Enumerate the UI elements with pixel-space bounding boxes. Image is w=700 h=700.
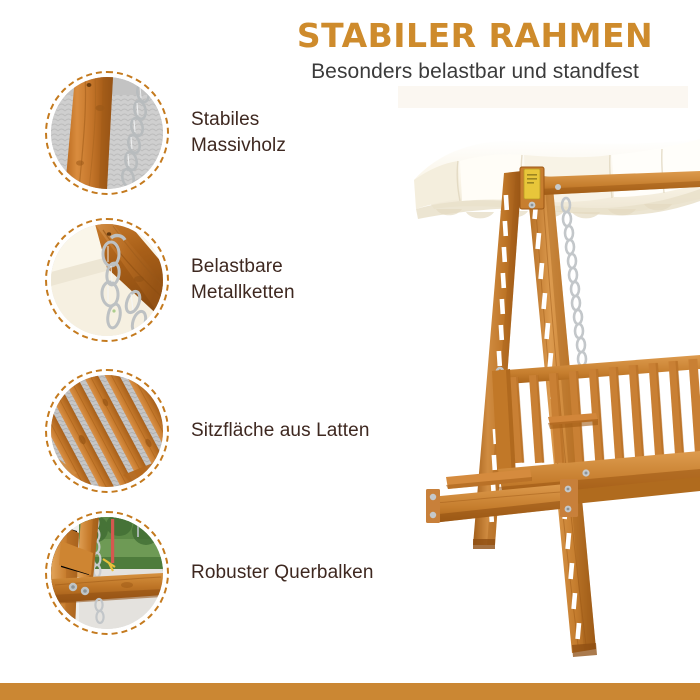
accent-bar bbox=[0, 683, 700, 700]
feature-thumbnail-3 bbox=[45, 369, 169, 493]
dashed-ring-4 bbox=[45, 511, 169, 635]
product-image-wooden-garden-swing bbox=[400, 125, 700, 670]
infographic-canvas: STABILER RAHMEN Besonders belastbar und … bbox=[0, 0, 700, 700]
dashed-ring-1 bbox=[45, 71, 169, 195]
feature-thumbnail-4 bbox=[45, 511, 169, 635]
feature-label-3: Sitzfläche aus Latten bbox=[191, 418, 370, 444]
dashed-ring-2 bbox=[45, 218, 169, 342]
feature-thumbnail-1 bbox=[45, 71, 169, 195]
feature-label-1: Stabiles Massivholz bbox=[191, 107, 286, 158]
page-title: STABILER RAHMEN bbox=[255, 18, 695, 54]
feature-label-2: Belastbare Metallketten bbox=[191, 254, 295, 305]
feature-label-4: Robuster Querbalken bbox=[191, 560, 374, 586]
bench-seat bbox=[492, 355, 700, 511]
feature-thumbnail-2 bbox=[45, 218, 169, 342]
dashed-ring-3 bbox=[45, 369, 169, 493]
